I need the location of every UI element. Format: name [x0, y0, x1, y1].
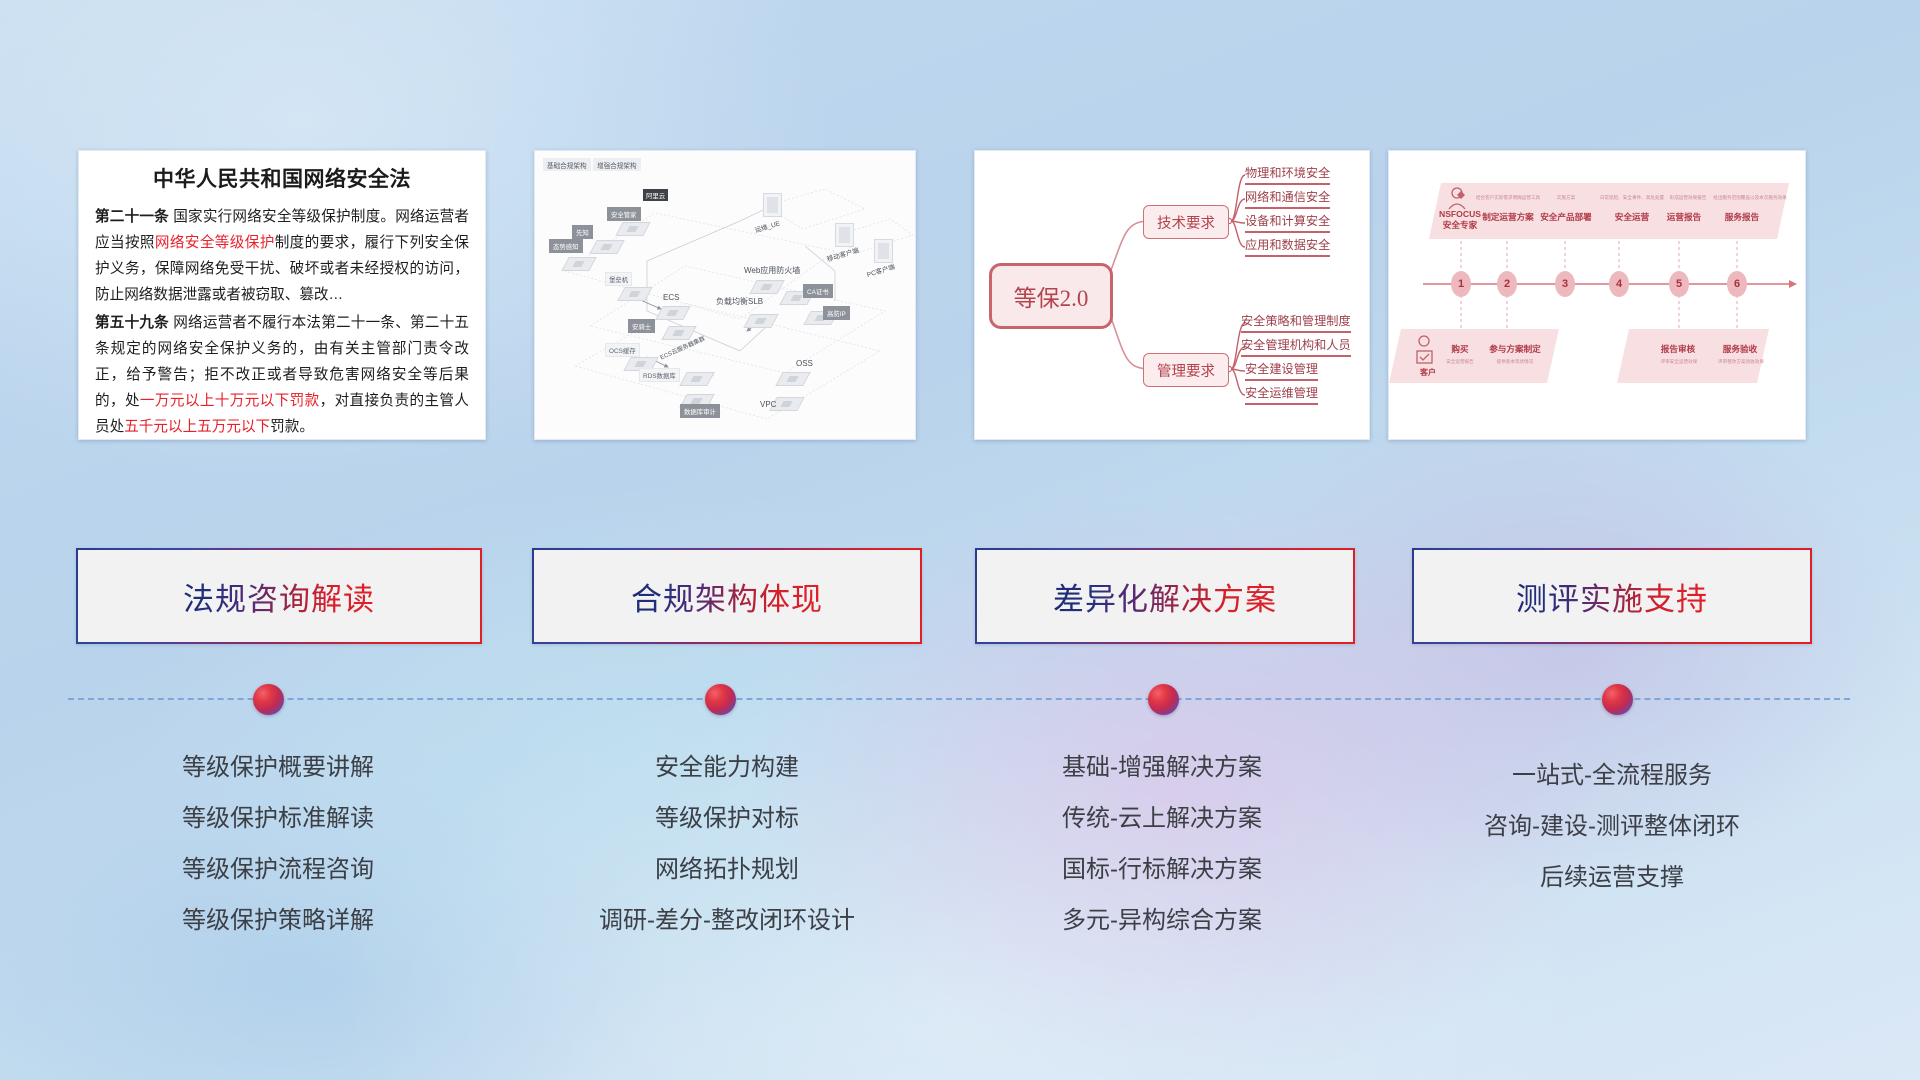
card-law-document[interactable]: 中华人民共和国网络安全法 第二十一条 国家实行网络安全等级保护制度。网络运营者应… [78, 150, 486, 440]
list-item: 等级保护标准解读 [78, 793, 478, 844]
section-title-box-1[interactable]: 法规咨询解读 [76, 548, 482, 644]
timeline-node-1[interactable] [253, 684, 284, 715]
section-title-box-4[interactable]: 测评实施支持 [1412, 548, 1812, 644]
section-title-box-2[interactable]: 合规架构体现 [532, 548, 922, 644]
arch-icon-xianzhi [593, 237, 619, 252]
mindmap-leaf: 设备和计算安全 [1245, 211, 1330, 233]
arch-label-db-audit: 数据库审计 [680, 404, 720, 418]
timeline-step-number: 3 [1555, 271, 1575, 297]
law-seg-highlight: 一万元以上十万元以下罚款 [140, 393, 320, 409]
section-items-1: 等级保护概要讲解 等级保护标准解读 等级保护流程咨询 等级保护策略详解 [78, 742, 478, 946]
arch-node-cloud: 阿里云 [643, 189, 668, 201]
timeline-step-number: 6 [1727, 271, 1747, 297]
arch-icon-waf [753, 277, 779, 292]
mindmap-branch-management[interactable]: 管理要求 [1143, 353, 1229, 387]
timeline-top-label: 服务报告 [1711, 211, 1773, 223]
arch-icon-rds [683, 369, 709, 384]
mindmap-diagram: 等保2.0 技术要求 管理要求 物理和环境安全 网络和通信安全 设备和计算安全 … [975, 151, 1369, 439]
arch-label-xianzhi: 先知 [572, 225, 593, 239]
mindmap-root: 等保2.0 [989, 263, 1113, 329]
timeline-bottom-sub: 评审整改方案验收效果 [1703, 359, 1779, 365]
arch-label-waf: Web应用防火墙 [741, 263, 803, 277]
timeline-bottom-sub: 安全运营报告 [1435, 359, 1485, 365]
law-seg-highlight: 五千元以上五万元以下 [124, 419, 270, 435]
arch-icon-agent [665, 323, 691, 338]
arch-label-situation: 态势感知 [549, 239, 583, 253]
list-item: 一站式-全流程服务 [1410, 750, 1814, 801]
list-item: 传统-云上解决方案 [962, 793, 1362, 844]
timeline-step-number: 1 [1451, 271, 1471, 297]
list-item: 国标-行标解决方案 [962, 844, 1362, 895]
architecture-diagram: 基础合规架构 增强合规架构 阿里云 安全管家 先知 态势感知 堡垒机 ECS 安… [535, 151, 915, 439]
section-title-label: 差异化解决方案 [1053, 574, 1277, 619]
mindmap-leaf: 安全运维管理 [1245, 383, 1318, 405]
mindmap-leaf: 安全管理机构和人员 [1241, 335, 1351, 357]
list-item: 基础-增强解决方案 [962, 742, 1362, 793]
arch-icon-slb [747, 311, 773, 326]
law-article-59: 第五十九条 网络运营者不履行本法第二十一条、第二十五条规定的网络安全保护义务的，… [95, 310, 469, 440]
law-body: 中华人民共和国网络安全法 第二十一条 国家实行网络安全等级保护制度。网络运营者应… [79, 151, 485, 440]
section-items-3: 基础-增强解决方案 传统-云上解决方案 国标-行标解决方案 多元-异构综合方案 [962, 742, 1362, 946]
mindmap-leaf: 安全策略和管理制度 [1241, 311, 1351, 333]
arch-label-oss: OSS [793, 357, 816, 369]
timeline-top-sub: 实施方案 [1539, 195, 1593, 201]
card-mindmap[interactable]: 等保2.0 技术要求 管理要求 物理和环境安全 网络和通信安全 设备和计算安全 … [974, 150, 1370, 440]
arch-label-ca: CA证书 [803, 284, 833, 298]
list-item: 多元-异构综合方案 [962, 895, 1362, 946]
section-title-box-3[interactable]: 差异化解决方案 [975, 548, 1355, 644]
timeline-step-number: 2 [1497, 271, 1517, 297]
timeline-top-label: 安全产品部署 [1531, 211, 1601, 223]
list-item: 等级保护策略详解 [78, 895, 478, 946]
list-item: 后续运营支撑 [1410, 852, 1814, 903]
law-title: 中华人民共和国网络安全法 [95, 163, 469, 193]
timeline-bottom-label: 参与方案制定 [1481, 343, 1549, 355]
arch-label-agent: 安骑士 [628, 319, 655, 333]
timeline-top-label: 运营报告 [1653, 211, 1715, 223]
arch-icon-situation [565, 254, 591, 269]
timeline-dashed-line [68, 698, 1850, 700]
list-item: 咨询-建设-测评整体闭环 [1410, 801, 1814, 852]
list-item: 等级保护概要讲解 [78, 742, 478, 793]
list-item: 安全能力构建 [532, 742, 922, 793]
arch-label-ocs: OCS缓存 [605, 343, 640, 357]
arch-icon-oss [779, 369, 805, 384]
section-items-4: 一站式-全流程服务 咨询-建设-测评整体闭环 后续运营支撑 [1410, 750, 1814, 903]
arch-label-rds: RDS数据库 [639, 368, 680, 382]
arch-tab-basic[interactable]: 基础合规架构 [543, 158, 591, 171]
timeline-step-number: 4 [1609, 271, 1629, 297]
section-title-label: 测评实施支持 [1516, 574, 1708, 619]
law-article-21-no: 第二十一条 [95, 209, 169, 225]
list-item: 调研-差分-整改闭环设计 [532, 895, 922, 946]
section-title-label: 法规咨询解读 [183, 574, 375, 619]
mindmap-leaf: 物理和环境安全 [1245, 163, 1330, 185]
mindmap-leaf: 应用和数据安全 [1245, 235, 1330, 257]
timeline-bottom-sub: 提供基本现状情况 [1479, 359, 1551, 365]
list-item: 等级保护流程咨询 [78, 844, 478, 895]
arch-label-anti-ddos: 高防IP [823, 306, 850, 320]
timeline-role-customer: 客户 [1413, 367, 1443, 378]
service-timeline-diagram: NSFOCUS 安全专家 结合客户实际需求明确运营工具 制定运营方案 实施方案 … [1389, 151, 1805, 439]
arch-icon-bastion [621, 284, 647, 299]
section-items-2: 安全能力构建 等级保护对标 网络拓扑规划 调研-差分-整改闭环设计 [532, 742, 922, 946]
arch-icon-security-butler [619, 219, 645, 234]
timeline-top-sub: 给出服务范围覆盖以及本次服务效果 [1701, 195, 1799, 201]
law-article-59-no: 第五十九条 [95, 315, 169, 331]
timeline-node-3[interactable] [1148, 684, 1179, 715]
arch-label-bastion: 堡垒机 [605, 272, 632, 286]
timeline-bottom-label: 购买 [1437, 343, 1483, 355]
arch-label-slb: 负载均衡SLB [713, 294, 766, 308]
card-cloud-architecture[interactable]: 基础合规架构 增强合规架构 阿里云 安全管家 先知 态势感知 堡垒机 ECS 安… [534, 150, 916, 440]
timeline-node-4[interactable] [1602, 684, 1633, 715]
card-service-timeline[interactable]: NSFOCUS 安全专家 结合客户实际需求明确运营工具 制定运营方案 实施方案 … [1388, 150, 1806, 440]
timeline-node-2[interactable] [705, 684, 736, 715]
list-item: 等级保护对标 [532, 793, 922, 844]
arch-tab-enhanced[interactable]: 增强合规架构 [593, 158, 641, 171]
law-seg: 罚款。 [270, 419, 314, 435]
mindmap-leaf: 安全建设管理 [1245, 359, 1318, 381]
arch-icon-ops-terminal [763, 193, 782, 217]
list-item: 网络拓扑规划 [532, 844, 922, 895]
timeline-bottom-label: 报告审核 [1647, 343, 1709, 355]
arch-label-ecs: ECS [660, 291, 682, 303]
law-article-21: 第二十一条 国家实行网络安全等级保护制度。网络运营者应当按照网络安全等级保护制度… [95, 204, 469, 308]
timeline-step-number: 5 [1669, 271, 1689, 297]
preview-cards-row: 中华人民共和国网络安全法 第二十一条 国家实行网络安全等级保护制度。网络运营者应… [0, 0, 1920, 460]
mindmap-leaf: 网络和通信安全 [1245, 187, 1330, 209]
law-seg-highlight: 网络安全等级保护 [155, 235, 275, 251]
section-title-label: 合规架构体现 [631, 574, 823, 619]
mindmap-branch-technical[interactable]: 技术要求 [1143, 205, 1229, 239]
arch-icon-ecs [659, 303, 685, 318]
arch-label-security-butler: 安全管家 [607, 207, 641, 221]
arch-label-vpc: VPC [757, 398, 779, 410]
timeline-bottom-label: 服务验收 [1709, 343, 1771, 355]
